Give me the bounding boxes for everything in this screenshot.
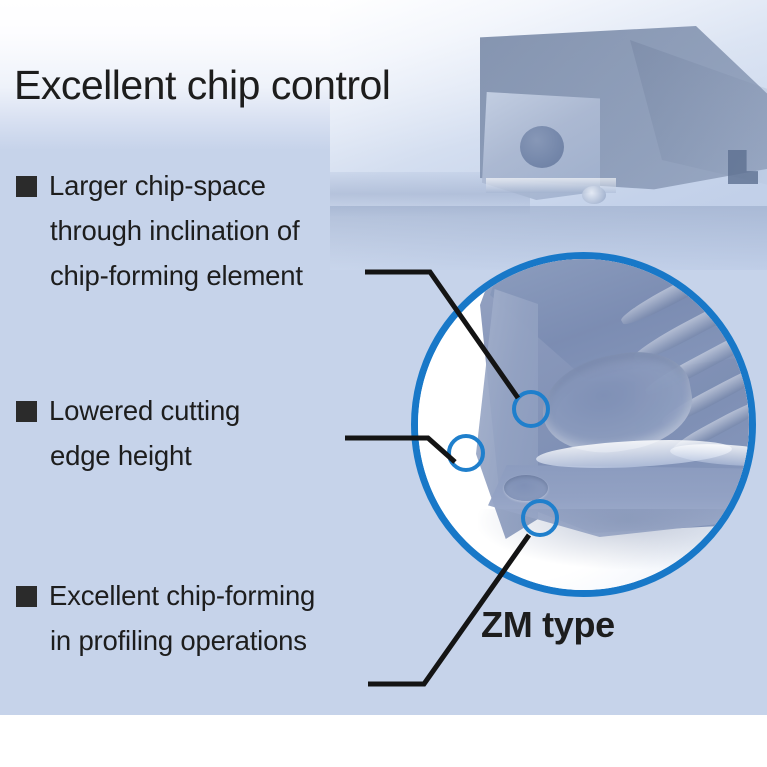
insert-clamp-hole xyxy=(520,126,564,168)
insert-type-caption: ZM type xyxy=(481,604,615,646)
bullet-line: chip-forming element xyxy=(16,253,303,298)
bottom-white-band xyxy=(0,715,767,767)
callout-circle-cutting-edge-height xyxy=(447,434,485,472)
callout-circle-chip-forming-element xyxy=(512,390,550,428)
bullet-line: edge height xyxy=(16,433,240,478)
bullet-line: Excellent chip-forming xyxy=(16,573,315,618)
bullet-text: Lowered cutting xyxy=(49,395,240,426)
bullet-line: Larger chip-space xyxy=(16,163,303,208)
product-photo xyxy=(330,0,767,270)
corner-radius-dimple xyxy=(504,475,548,501)
bullet-text: Larger chip-space xyxy=(49,170,266,201)
bullet-line: in profiling operations xyxy=(16,618,315,663)
bullet-larger-chip-space: Larger chip-space through inclination of… xyxy=(16,163,303,298)
bullet-excellent-chip-forming: Excellent chip-forming in profiling oper… xyxy=(16,573,315,663)
bullet-square-icon xyxy=(16,401,37,422)
callout-circle-profiling-corner xyxy=(521,499,559,537)
clamp-screw xyxy=(582,186,606,204)
page-title: Excellent chip control xyxy=(14,62,390,109)
bullet-line: Lowered cutting xyxy=(16,388,240,433)
chip-control-poster: Excellent chip control Larger chip-space… xyxy=(0,0,767,767)
magnifier-lens xyxy=(411,252,756,597)
bullet-square-icon xyxy=(16,176,37,197)
bullet-line: through inclination of xyxy=(16,208,303,253)
bullet-square-icon xyxy=(16,586,37,607)
bullet-text: Excellent chip-forming xyxy=(49,580,315,611)
lens-shadow xyxy=(478,509,756,569)
bullet-lowered-cutting-edge: Lowered cutting edge height xyxy=(16,388,240,478)
